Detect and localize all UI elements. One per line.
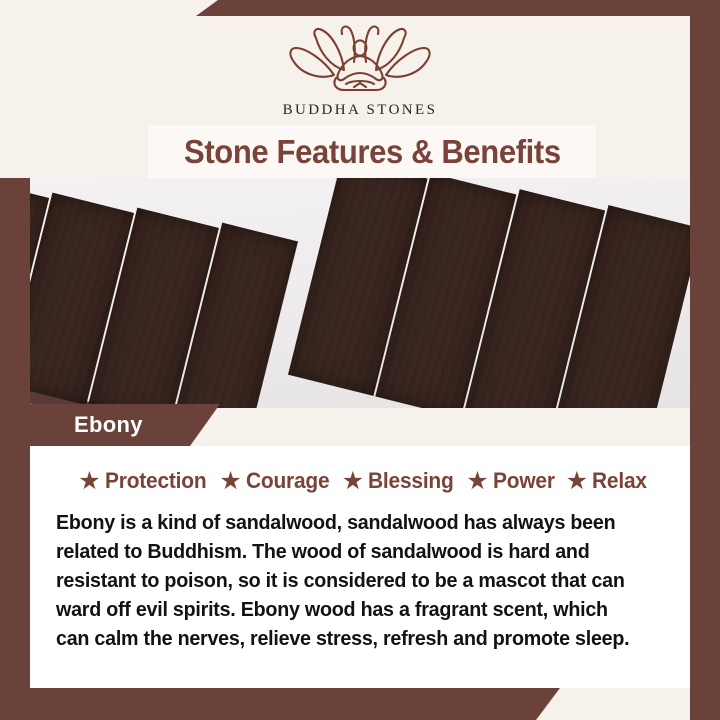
benefit-item: ★ Courage bbox=[211, 468, 333, 494]
brand-name: BUDDHA STONES bbox=[283, 102, 438, 119]
benefit-label: Courage bbox=[246, 468, 329, 494]
benefit-item: ★ Blessing bbox=[334, 468, 459, 494]
star-icon: ★ bbox=[342, 469, 364, 494]
benefit-label: Blessing bbox=[368, 468, 454, 494]
star-icon: ★ bbox=[219, 469, 241, 494]
brand-logo: BUDDHA STONES bbox=[0, 22, 720, 119]
star-icon: ★ bbox=[566, 469, 588, 494]
benefits-row: ★ Protection ★ Courage ★ Blessing ★ Powe… bbox=[56, 468, 664, 494]
star-icon: ★ bbox=[78, 469, 100, 494]
star-icon: ★ bbox=[466, 469, 488, 494]
benefit-item: ★ Protection bbox=[70, 468, 211, 494]
wood-board-right bbox=[275, 178, 690, 408]
content-card: ★ Protection ★ Courage ★ Blessing ★ Powe… bbox=[30, 446, 690, 688]
lotus-meditation-figure-icon bbox=[280, 22, 440, 96]
benefit-item: ★ Relax bbox=[558, 468, 650, 494]
page-title-plate: Stone Features & Benefits bbox=[148, 125, 596, 178]
frame-right-accent bbox=[690, 16, 720, 720]
frame-left-accent bbox=[0, 178, 30, 720]
benefit-label: Relax bbox=[592, 468, 647, 494]
product-name-label: Ebony bbox=[74, 412, 143, 438]
benefit-label: Protection bbox=[105, 468, 206, 494]
benefit-item: ★ Power bbox=[458, 468, 557, 494]
frame-top-accent bbox=[196, 0, 720, 16]
page-title: Stone Features & Benefits bbox=[184, 133, 561, 171]
benefit-label: Power bbox=[493, 468, 555, 494]
product-name-banner: Ebony bbox=[30, 404, 220, 446]
product-image bbox=[30, 178, 690, 408]
frame-bottom-accent bbox=[0, 688, 560, 720]
description-text: Ebony is a kind of sandalwood, sandalwoo… bbox=[56, 508, 640, 653]
header-section: BUDDHA STONES Stone Features & Benefits bbox=[0, 0, 720, 178]
